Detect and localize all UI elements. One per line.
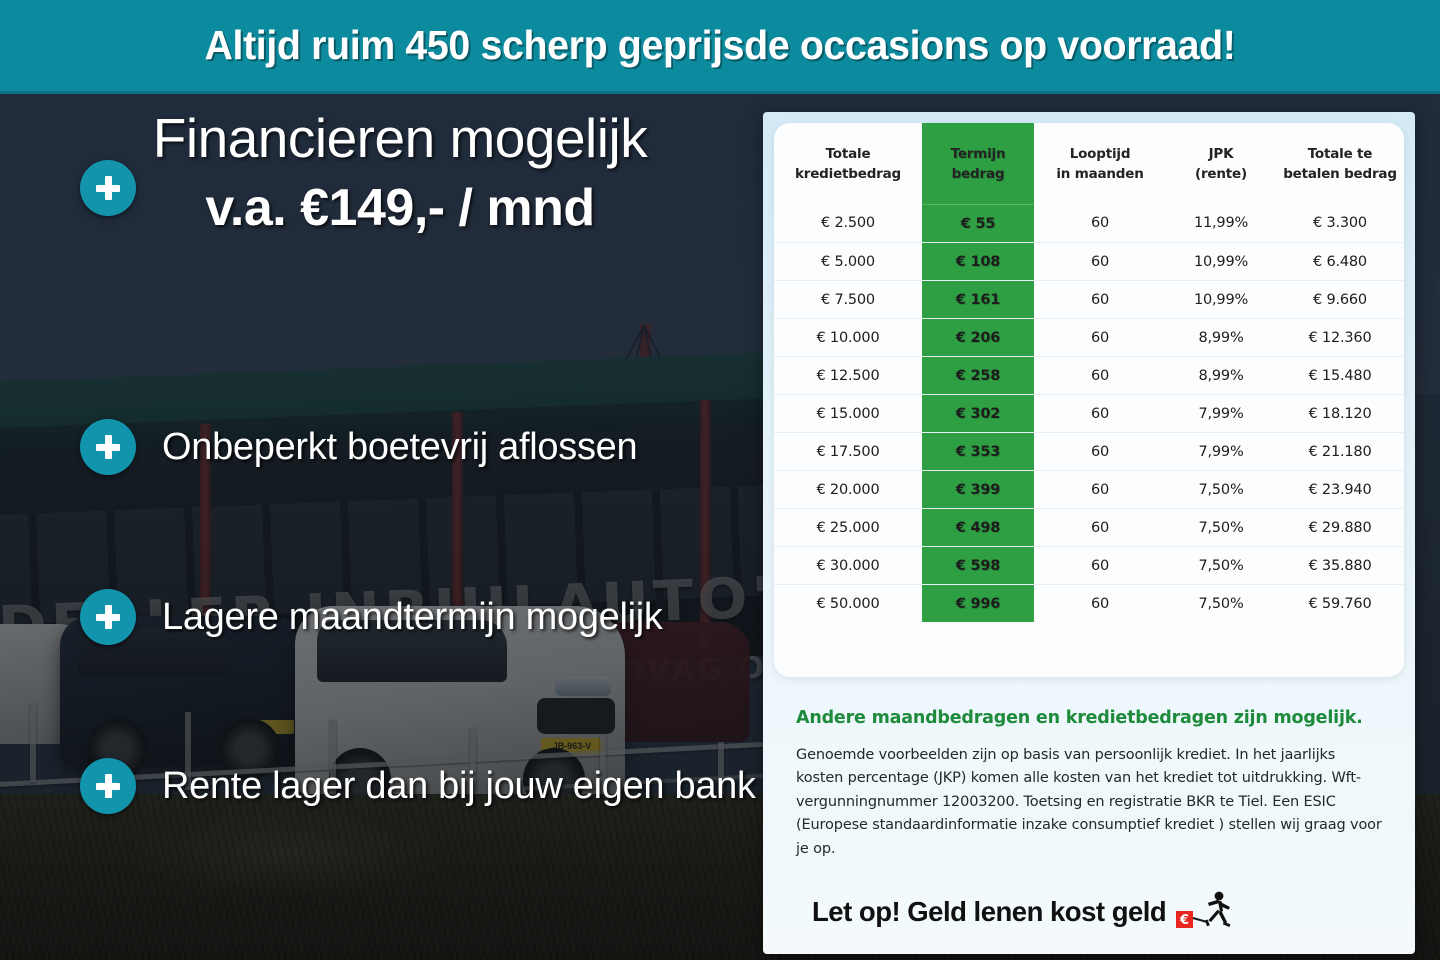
cell-total: € 15.480: [1276, 357, 1404, 395]
rate-table-body: € 2.500€ 556011,99%€ 3.300 € 5.000€ 1086…: [774, 205, 1404, 623]
cell-months: 60: [1034, 205, 1166, 243]
cell-monthly: € 206: [922, 319, 1034, 357]
plus-icon: [80, 419, 136, 475]
cell-credit: € 12.500: [774, 357, 922, 395]
promo-bullet-label: Rente lager dan bij jouw eigen bank: [162, 765, 756, 808]
cell-months: 60: [1034, 433, 1166, 471]
cell-months: 60: [1034, 509, 1166, 547]
col-header-total-payable: Totale te betalen bedrag: [1276, 123, 1404, 205]
cell-total: € 3.300: [1276, 205, 1404, 243]
cell-credit: € 30.000: [774, 547, 922, 585]
cell-monthly: € 399: [922, 471, 1034, 509]
table-row: € 30.000€ 598607,50%€ 35.880: [774, 547, 1404, 585]
disclaimer-body: Genoemde voorbeelden zijn op basis van p…: [796, 744, 1382, 861]
cell-monthly: € 161: [922, 281, 1034, 319]
cell-months: 60: [1034, 547, 1166, 585]
plus-icon: [80, 589, 136, 645]
col-header-monthly-amount: Termijn bedrag: [922, 123, 1034, 205]
cell-credit: € 25.000: [774, 509, 922, 547]
cell-monthly: € 108: [922, 243, 1034, 281]
top-banner: Altijd ruim 450 scherp geprijsde occasio…: [0, 0, 1440, 94]
table-row: € 10.000€ 206608,99%€ 12.360: [774, 319, 1404, 357]
table-row: € 12.500€ 258608,99%€ 15.480: [774, 357, 1404, 395]
col-header-jpk: JPK (rente): [1166, 123, 1276, 205]
table-row: € 25.000€ 498607,50%€ 29.880: [774, 509, 1404, 547]
cell-months: 60: [1034, 243, 1166, 281]
table-row: € 2.500€ 556011,99%€ 3.300: [774, 205, 1404, 243]
cell-months: 60: [1034, 357, 1166, 395]
rate-table-card: Totale kredietbedrag Termijn bedrag Loop…: [774, 123, 1404, 677]
cell-jpk: 7,99%: [1166, 395, 1276, 433]
cell-jpk: 7,50%: [1166, 471, 1276, 509]
table-row: € 20.000€ 399607,50%€ 23.940: [774, 471, 1404, 509]
table-row: € 15.000€ 302607,99%€ 18.120: [774, 395, 1404, 433]
top-banner-headline: Altijd ruim 450 scherp geprijsde occasio…: [205, 22, 1236, 69]
cell-credit: € 20.000: [774, 471, 922, 509]
cell-months: 60: [1034, 319, 1166, 357]
table-row: € 17.500€ 353607,99%€ 21.180: [774, 433, 1404, 471]
promo-bullet-1: Onbeperkt boetevrij aflossen: [80, 419, 637, 475]
cell-monthly: € 353: [922, 433, 1034, 471]
cell-total: € 21.180: [1276, 433, 1404, 471]
cell-monthly: € 258: [922, 357, 1034, 395]
afm-walking-person-icon: €: [1176, 891, 1234, 933]
disclaimer-heading: Andere maandbedragen en kredietbedragen …: [796, 707, 1382, 730]
cell-jpk: 7,99%: [1166, 433, 1276, 471]
cell-total: € 12.360: [1276, 319, 1404, 357]
rate-table: Totale kredietbedrag Termijn bedrag Loop…: [774, 123, 1404, 622]
cell-credit: € 7.500: [774, 281, 922, 319]
cell-jpk: 8,99%: [1166, 319, 1276, 357]
cell-months: 60: [1034, 471, 1166, 509]
col-header-duration: Looptijd in maanden: [1034, 123, 1166, 205]
cell-total: € 9.660: [1276, 281, 1404, 319]
cell-jpk: 7,50%: [1166, 585, 1276, 623]
cell-jpk: 10,99%: [1166, 281, 1276, 319]
cell-monthly: € 302: [922, 395, 1034, 433]
cell-jpk: 10,99%: [1166, 243, 1276, 281]
cell-monthly: € 996: [922, 585, 1034, 623]
table-header-row: Totale kredietbedrag Termijn bedrag Loop…: [774, 123, 1404, 205]
cell-jpk: 7,50%: [1166, 509, 1276, 547]
cell-jpk: 11,99%: [1166, 205, 1276, 243]
promo-bullet-label: Onbeperkt boetevrij aflossen: [162, 426, 637, 469]
promo-headline: Financieren mogelijk v.a. €149,- / mnd: [0, 106, 760, 238]
credit-warning-text: Let op! Geld lenen kost geld: [812, 896, 1166, 928]
cell-total: € 29.880: [1276, 509, 1404, 547]
cell-total: € 35.880: [1276, 547, 1404, 585]
promo-headline-line1: Financieren mogelijk: [0, 106, 760, 170]
cell-monthly: € 55: [922, 205, 1034, 243]
plus-icon: [80, 758, 136, 814]
table-row: € 7.500€ 1616010,99%€ 9.660: [774, 281, 1404, 319]
cell-monthly: € 598: [922, 547, 1034, 585]
table-row: € 50.000€ 996607,50%€ 59.760: [774, 585, 1404, 623]
cell-credit: € 2.500: [774, 205, 922, 243]
promo-headline-line2: v.a. €149,- / mnd: [0, 178, 760, 238]
cell-jpk: 7,50%: [1166, 547, 1276, 585]
cell-months: 60: [1034, 281, 1166, 319]
finance-promo-banner: Altijd ruim 450 scherp geprijsde occasio…: [0, 0, 1440, 960]
table-row: € 5.000€ 1086010,99%€ 6.480: [774, 243, 1404, 281]
cell-total: € 6.480: [1276, 243, 1404, 281]
cell-credit: € 50.000: [774, 585, 922, 623]
finance-table-panel: Totale kredietbedrag Termijn bedrag Loop…: [763, 112, 1415, 954]
cell-total: € 59.760: [1276, 585, 1404, 623]
disclaimer-block: Andere maandbedragen en kredietbedragen …: [774, 677, 1404, 933]
promo-bullet-2: Lagere maandtermijn mogelijk: [80, 589, 663, 645]
cell-credit: € 5.000: [774, 243, 922, 281]
cell-total: € 23.940: [1276, 471, 1404, 509]
cell-credit: € 15.000: [774, 395, 922, 433]
cell-credit: € 10.000: [774, 319, 922, 357]
cell-jpk: 8,99%: [1166, 357, 1276, 395]
promo-bullet-label: Lagere maandtermijn mogelijk: [162, 596, 663, 639]
cell-monthly: € 498: [922, 509, 1034, 547]
cell-months: 60: [1034, 395, 1166, 433]
credit-warning: Let op! Geld lenen kost geld €: [796, 891, 1382, 933]
cell-credit: € 17.500: [774, 433, 922, 471]
svg-text:€: €: [1179, 913, 1189, 928]
promo-bullet-3: Rente lager dan bij jouw eigen bank: [80, 758, 756, 814]
cell-total: € 18.120: [1276, 395, 1404, 433]
cell-months: 60: [1034, 585, 1166, 623]
col-header-total-credit: Totale kredietbedrag: [774, 123, 922, 205]
promo-content: Financieren mogelijk v.a. €149,- / mnd O…: [0, 94, 780, 960]
